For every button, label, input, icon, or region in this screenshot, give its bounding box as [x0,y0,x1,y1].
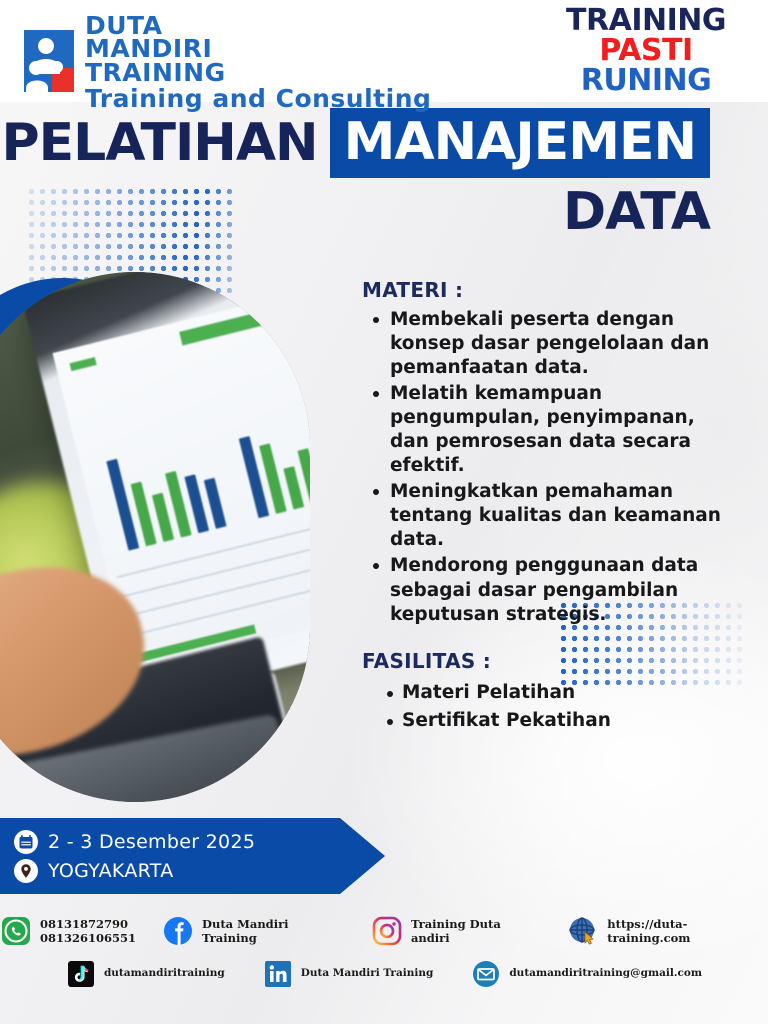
hero-photo [0,272,310,802]
logo-tagline: Training and Consulting [85,87,431,110]
linkedin-icon [263,959,293,989]
contact-instagram[interactable]: Training Duta andiri [371,915,541,947]
brand-tagline: TRAINING PASTI RUNING [566,6,726,96]
tiktok-icon [66,959,96,989]
title-word-manajemen: MANAJEMEN [330,108,710,178]
event-date-row: 2 - 3 Desember 2025 [14,830,385,854]
tiktok-handle: dutamandiritraining [104,967,225,980]
facebook-icon [162,915,194,947]
list-item: Melatih kemampuan pengumpulan, penyimpan… [388,382,734,478]
logo-line-3: TRAINING [85,61,431,84]
calendar-icon [14,830,38,854]
contact-facebook[interactable]: Duta Mandiri Training [162,915,345,947]
page-title: PELATIHAN MANAJEMEN DATA [0,108,768,238]
email-icon [471,959,501,989]
email-address: dutamandiritraining@gmail.com [509,967,702,980]
logo-mark-icon [22,28,76,96]
list-item: Membekali peserta dengan konsep dasar pe… [388,308,734,380]
logo-line-2: MANDIRI [85,37,431,60]
poster-header: DUTA MANDIRI TRAINING Training and Consu… [0,0,768,102]
list-item: Meningkatkan pemahaman tentang kualitas … [388,480,734,552]
contact-row-2: dutamandiritraining Duta Mandiri Trainin… [0,959,768,989]
contact-linkedin[interactable]: Duta Mandiri Training [263,959,434,989]
fasilitas-heading: FASILITAS : [362,649,734,673]
logo-figures-icon [22,28,76,96]
instagram-name: Training Duta andiri [411,917,541,946]
materi-list: Membekali peserta dengan konsep dasar pe… [362,308,734,627]
event-location: YOGYAKARTA [48,860,174,882]
content-column: MATERI : Membekali peserta dengan konsep… [362,278,734,736]
contact-whatsapp[interactable]: 08131872790 081326106551 [0,915,136,947]
tagline-line-1: TRAINING [566,6,726,36]
website-url: https://duta-training.com [607,917,768,946]
contact-email[interactable]: dutamandiritraining@gmail.com [471,959,702,989]
contact-footer: 08131872790 081326106551 Duta Mandiri Tr… [0,905,768,1024]
event-date: 2 - 3 Desember 2025 [48,831,255,853]
tagline-line-2: PASTI [566,36,726,66]
fasilitas-section: FASILITAS : Materi Pelatihan Sertifikat … [362,649,734,736]
whatsapp-icon [0,915,32,947]
contact-website[interactable]: https://duta-training.com [567,915,768,947]
whatsapp-numbers: 08131872790 081326106551 [40,917,136,946]
contact-row-1: 08131872790 081326106551 Duta Mandiri Tr… [0,915,768,947]
globe-icon [567,915,599,947]
title-word-data: DATA [563,182,710,242]
map-pin-icon [14,859,38,883]
tagline-line-3: RUNING [566,66,726,96]
linkedin-name: Duta Mandiri Training [301,967,434,980]
list-item: Mendorong penggunaan data sebagai dasar … [388,554,734,626]
photo-chart-right [230,378,310,519]
list-item: Sertifikat Pekatihan [402,707,734,736]
materi-heading: MATERI : [362,278,734,302]
poster-canvas: DUTA MANDIRI TRAINING Training and Consu… [0,0,768,1024]
whatsapp-number-2: 081326106551 [40,931,136,945]
instagram-icon [371,915,403,947]
event-location-row: YOGYAKARTA [14,859,385,883]
title-word-pelatihan: PELATIHAN [2,117,318,169]
contact-tiktok[interactable]: dutamandiritraining [66,959,225,989]
photo-chart-left [101,428,239,552]
logo-wordmark: DUTA MANDIRI TRAINING Training and Consu… [85,14,431,110]
whatsapp-number-1: 08131872790 [40,917,128,931]
list-item: Materi Pelatihan [402,679,734,708]
company-logo: DUTA MANDIRI TRAINING Training and Consu… [22,14,431,110]
facebook-name: Duta Mandiri Training [202,917,345,946]
fasilitas-list: Materi Pelatihan Sertifikat Pekatihan [362,679,734,736]
event-info-banner: 2 - 3 Desember 2025 YOGYAKARTA [0,818,385,894]
